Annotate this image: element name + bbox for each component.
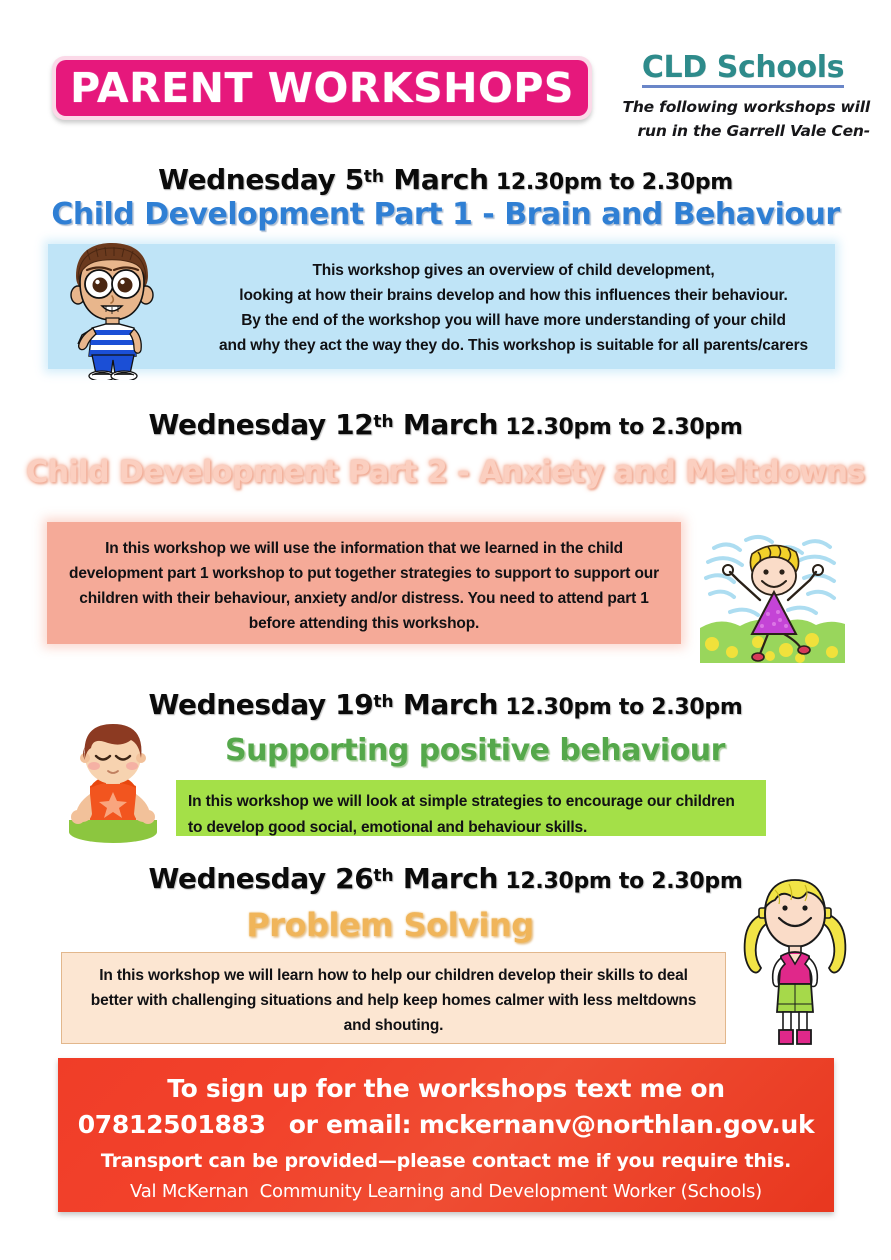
workshop-1-desc-line-4: and why they act the way they do. This w… (218, 333, 809, 358)
workshop-4-desc-line-1: In this workshop we will learn how to he… (76, 963, 711, 988)
workshop-2-date-number: 12 (335, 408, 373, 441)
workshop-3-day: Wednesday (149, 688, 326, 721)
workshop-3-desc-line-1: In this workshop we will look at simple … (188, 789, 752, 815)
workshop-2-desc-line-3: children with their behaviour, anxiety a… (65, 586, 663, 611)
workshop-3-desc-line-2: to develop good social, emotional and be… (188, 815, 752, 841)
child-meditating-on-mat-icon (58, 716, 168, 848)
workshop-2-desc-line-2: development part 1 workshop to put toget… (65, 561, 663, 586)
org-note-line-1: The following workshops will (612, 95, 870, 119)
workshop-2-date-suffix: th (373, 412, 393, 432)
workshop-1-desc-line-1: This workshop gives an overview of child… (218, 258, 809, 283)
workshop-3-date-number: 19 (335, 688, 373, 721)
poster-header: PARENT WORKSHOPS CLD Schools The followi… (0, 52, 891, 162)
workshop-2-desc-line-4: before attending this workshop. (65, 611, 663, 636)
workshop-3-month: March (403, 688, 498, 721)
workshop-1-date-number: 5 (345, 163, 364, 196)
workshop-3-time: 12.30pm to 2.30pm (505, 695, 742, 720)
poster-title: PARENT WORKSHOPS (70, 64, 574, 112)
workshop-2-month: March (403, 408, 498, 441)
poster-root: PARENT WORKSHOPS CLD Schools The followi… (0, 0, 891, 1260)
org-block: CLD Schools The following workshops will… (612, 52, 874, 143)
workshop-4-date-number: 26 (335, 862, 373, 895)
email-address[interactable]: mckernanv@northlan.gov.uk (419, 1110, 814, 1139)
workshop-4-day: Wednesday (149, 862, 326, 895)
workshop-4-desc-line-2: better with challenging situations and h… (76, 988, 711, 1013)
workshop-1-day: Wednesday (158, 163, 335, 196)
workshop-1-time: 12.30pm to 2.30pm (496, 170, 733, 195)
title-banner-fill: PARENT WORKSHOPS (56, 60, 588, 116)
workshop-3-date-suffix: th (373, 692, 393, 712)
workshop-1-desc-line-2: looking at how their brains develop and … (218, 283, 809, 308)
workshop-1-title: Child Development Part 1 - Brain and Beh… (0, 197, 891, 232)
workshop-2-desc-line-1: In this workshop we will use the informa… (65, 536, 663, 561)
workshop-2-time: 12.30pm to 2.30pm (505, 415, 742, 440)
workshop-2-day: Wednesday (149, 408, 326, 441)
org-note-line-2: run in the Garrell Vale Cen- (612, 119, 870, 143)
or-label: or email: (289, 1110, 412, 1139)
org-name: CLD Schools (642, 52, 844, 88)
contact-name: Val McKernan (130, 1181, 249, 1202)
workshop-4-date-suffix: th (373, 866, 393, 886)
girl-dancing-in-flowers-icon (700, 528, 845, 663)
workshop-1-date: Wednesday 5th March 12.30pm to 2.30pm (0, 163, 891, 196)
workshop-4-description: In this workshop we will learn how to he… (62, 953, 725, 1038)
workshop-4-description-box: In this workshop we will learn how to he… (61, 952, 726, 1044)
workshop-2-title: Child Development Part 2 - Anxiety and M… (0, 455, 891, 490)
workshop-4-month: March (403, 862, 498, 895)
boy-striped-shirt-icon (56, 240, 168, 380)
workshop-4-title: Problem Solving (60, 906, 720, 944)
workshop-1-month: March (393, 163, 488, 196)
workshop-2-description: In this workshop we will use the informa… (47, 522, 681, 636)
contact-role: Community Learning and Development Worke… (260, 1181, 762, 1202)
contact-person: Val McKernan Community Learning and Deve… (58, 1181, 834, 1202)
workshop-3-description-box: In this workshop we will look at simple … (176, 780, 766, 836)
signup-footer: To sign up for the workshops text me on … (58, 1058, 834, 1212)
workshop-1-desc-line-3: By the end of the workshop you will have… (218, 308, 809, 333)
org-note: The following workshops will run in the … (612, 95, 874, 143)
signup-instruction: To sign up for the workshops text me on (58, 1074, 834, 1103)
transport-note: Transport can be provided—please contact… (58, 1150, 834, 1172)
workshop-4-desc-line-3: and shouting. (76, 1013, 711, 1038)
workshop-4-time: 12.30pm to 2.30pm (505, 869, 742, 894)
workshop-2-date: Wednesday 12th March 12.30pm to 2.30pm (0, 408, 891, 441)
phone-number[interactable]: 07812501883 (78, 1110, 266, 1139)
title-banner: PARENT WORKSHOPS (52, 56, 592, 120)
workshop-2-description-box: In this workshop we will use the informa… (47, 522, 681, 644)
contact-line: 07812501883 or email: mckernanv@northlan… (58, 1110, 834, 1139)
workshop-1-date-suffix: th (364, 167, 384, 187)
workshop-3-title: Supporting positive behaviour (135, 733, 815, 768)
girl-with-pigtails-icon (735, 876, 855, 1048)
workshop-3-description: In this workshop we will look at simple … (176, 780, 766, 842)
